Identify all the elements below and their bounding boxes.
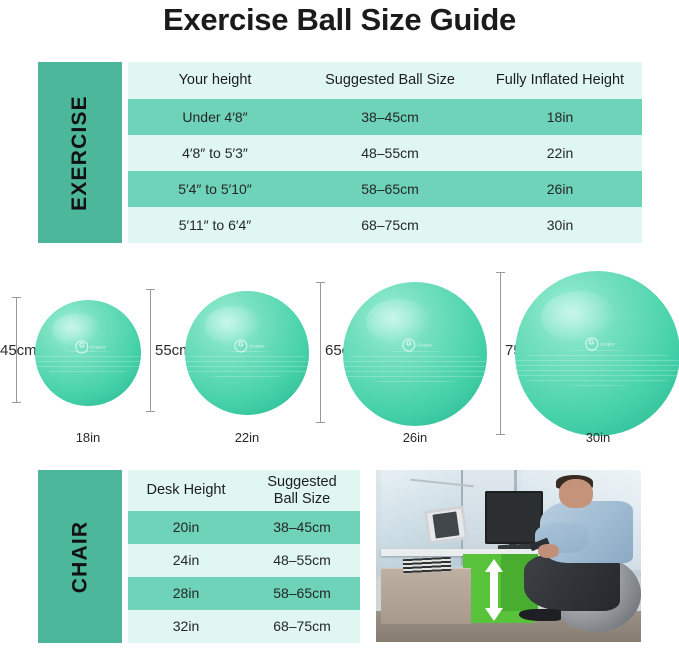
photo-person-head — [559, 479, 593, 508]
ball-logo-text: Gruper — [600, 341, 615, 346]
gruper-logo-icon: G — [75, 340, 88, 353]
table-row: 20in 38–45cm — [128, 511, 360, 544]
chair-table: CHAIR Desk Height Suggested Ball Size 20… — [38, 470, 360, 643]
cell-desk-height: 24in — [128, 552, 244, 568]
table-row: 28in 58–65cm — [128, 577, 360, 610]
table-header-row: Desk Height Suggested Ball Size — [128, 470, 360, 511]
chair-table-grid: Desk Height Suggested Ball Size 20in 38–… — [128, 470, 360, 643]
cell-height: 5′11″ to 6′4″ — [128, 217, 302, 233]
table-header-row: Your height Suggested Ball Size Fully In… — [128, 62, 642, 99]
column-header-line-2: Ball Size — [244, 491, 360, 508]
cell-ball-size: 38–45cm — [302, 109, 478, 125]
cell-height: 4′8″ to 5′3″ — [128, 145, 302, 161]
table-row: 5′11″ to 6′4″ 68–75cm 30in — [128, 207, 642, 243]
cell-ball-size: 38–45cm — [244, 519, 360, 535]
exercise-table-grid: Your height Suggested Ball Size Fully In… — [128, 62, 642, 243]
ball-logo: G Gruper — [402, 339, 432, 352]
cell-ball-size: 48–55cm — [244, 552, 360, 568]
ball-logo: G Gruper — [234, 339, 264, 352]
arrow-shaft — [490, 568, 498, 613]
column-header-your-height: Your height — [128, 72, 302, 89]
cell-height: Under 4′8″ — [128, 109, 302, 125]
photo-person-shoe — [519, 609, 561, 621]
cell-ball-size: 48–55cm — [302, 145, 478, 161]
table-row: 4′8″ to 5′3″ 48–55cm 22in — [128, 135, 642, 171]
column-header-line-1: Suggested — [244, 474, 360, 491]
exercise-ball-graphic-45cm: G Gruper — [35, 300, 141, 406]
exercise-ball-graphic-55cm: G Gruper — [185, 291, 309, 415]
table-row: Under 4′8″ 38–45cm 18in — [128, 99, 642, 135]
photo-person-hand — [538, 544, 559, 558]
ball-logo-text: Gruper — [249, 343, 264, 348]
gruper-logo-icon: G — [234, 339, 247, 352]
cell-desk-height: 20in — [128, 519, 244, 535]
table-row: 5′4″ to 5′10″ 58–65cm 26in — [128, 171, 642, 207]
ball-size-illustrations: 45cm G Gruper 55cm 18in G Gruper 65cm 22… — [0, 262, 679, 457]
photo-secondary-monitor-screen — [433, 511, 460, 538]
exercise-side-label: EXERCISE — [38, 62, 122, 243]
cell-inflated: 18in — [478, 109, 642, 125]
gruper-logo-icon: G — [402, 339, 415, 352]
column-header-suggested-ball-size: Suggested Ball Size — [244, 474, 360, 507]
photo-cabinet — [381, 568, 471, 624]
exercise-side-label-text: EXERCISE — [68, 95, 92, 211]
page-title: Exercise Ball Size Guide — [0, 2, 679, 38]
photo-height-arrow-icon — [485, 559, 504, 621]
column-header-fully-inflated-height: Fully Inflated Height — [478, 72, 642, 89]
cell-inflated: 26in — [478, 181, 642, 197]
dimension-line-55cm — [150, 289, 151, 412]
dimension-line-75cm — [500, 272, 501, 435]
column-header-suggested-ball-size: Suggested Ball Size — [302, 72, 478, 89]
ball-caption-22in: 22in — [207, 430, 287, 445]
ball-highlight — [541, 291, 617, 344]
ball-logo-text: Gruper — [417, 343, 432, 348]
cell-desk-height: 32in — [128, 618, 244, 634]
table-row: 32in 68–75cm — [128, 610, 360, 643]
ball-caption-26in: 26in — [375, 430, 455, 445]
cell-ball-size: 58–65cm — [244, 585, 360, 601]
office-ball-chair-photo — [376, 470, 641, 642]
ball-logo: G Gruper — [75, 340, 105, 353]
cell-ball-size: 68–75cm — [302, 217, 478, 233]
ball-caption-30in: 30in — [558, 430, 638, 445]
dimension-line-65cm — [320, 282, 321, 423]
cell-height: 5′4″ to 5′10″ — [128, 181, 302, 197]
cell-ball-size: 68–75cm — [244, 618, 360, 634]
cell-desk-height: 28in — [128, 585, 244, 601]
exercise-ball-graphic-65cm: G Gruper — [343, 282, 487, 426]
ball-caption-18in: 18in — [48, 430, 128, 445]
cell-ball-size: 58–65cm — [302, 181, 478, 197]
dimension-label-45cm: 45cm — [0, 342, 37, 359]
column-header-desk-height: Desk Height — [128, 482, 244, 499]
cell-inflated: 30in — [478, 217, 642, 233]
ball-logo: G Gruper — [585, 337, 615, 350]
chair-side-label-text: CHAIR — [68, 520, 92, 593]
chair-side-label: CHAIR — [38, 470, 122, 643]
arrow-head-down — [485, 608, 503, 621]
ball-logo-text: Gruper — [90, 344, 105, 349]
table-row: 24in 48–55cm — [128, 544, 360, 577]
cell-inflated: 22in — [478, 145, 642, 161]
exercise-ball-graphic-75cm: G Gruper — [515, 271, 679, 436]
photo-books — [402, 556, 450, 572]
exercise-table: EXERCISE Your height Suggested Ball Size… — [38, 62, 642, 243]
gruper-logo-icon: G — [585, 337, 598, 350]
